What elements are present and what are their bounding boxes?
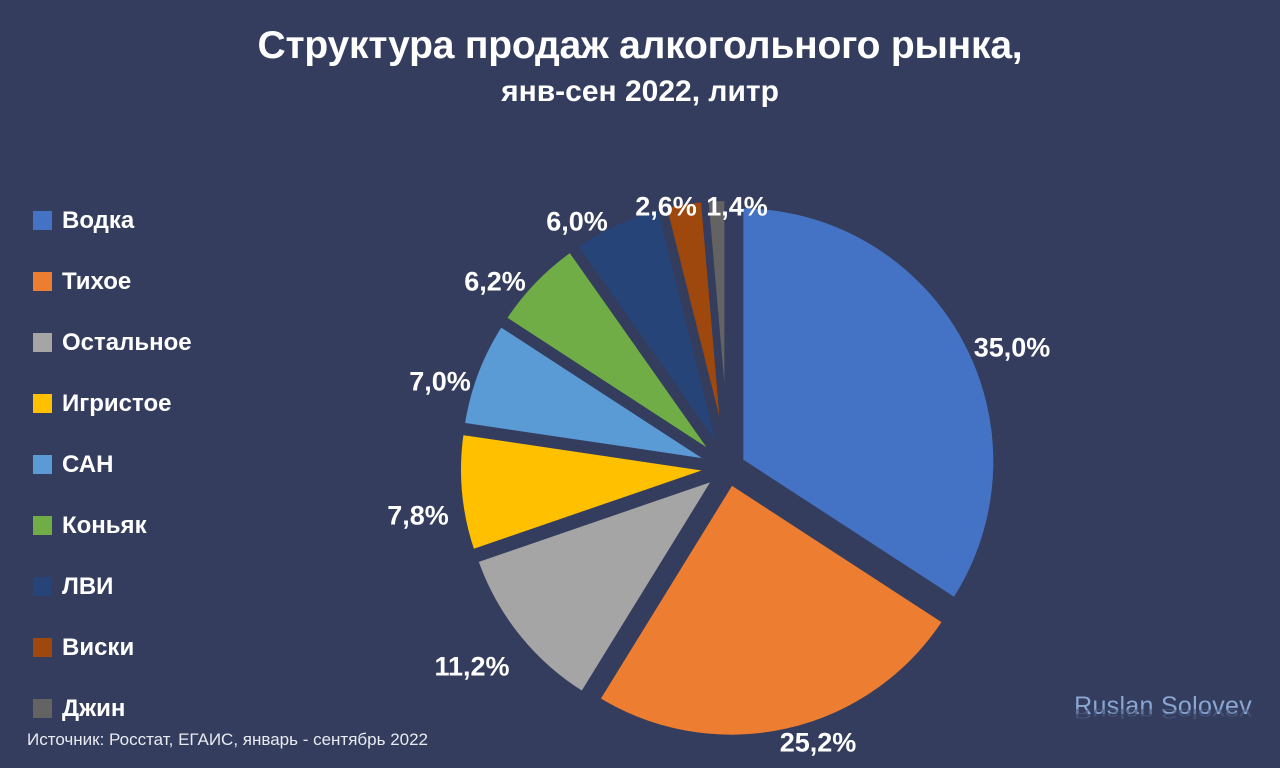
pie-slice-label-3: 7,8% [387, 501, 449, 532]
pie-chart-area: 35,0%25,2%11,2%7,8%7,0%6,2%6,0%2,6%1,4% [0, 0, 1280, 768]
pie-chart-svg [0, 0, 1280, 768]
pie-slice-label-5: 6,2% [464, 267, 526, 298]
pie-slice-label-0: 35,0% [974, 333, 1051, 364]
source-note: Источник: Росстат, ЕГАИС, январь - сентя… [27, 730, 428, 750]
pie-slice-label-2: 11,2% [434, 652, 509, 683]
pie-slice-label-1: 25,2% [780, 728, 857, 759]
pie-slice-label-4: 7,0% [409, 367, 471, 398]
chart-page: Структура продаж алкогольного рынка, янв… [0, 0, 1280, 768]
pie-slice-label-8: 1,4% [706, 192, 768, 223]
pie-slice-label-7: 2,6% [635, 192, 697, 223]
pie-slice-label-6: 6,0% [546, 207, 608, 238]
